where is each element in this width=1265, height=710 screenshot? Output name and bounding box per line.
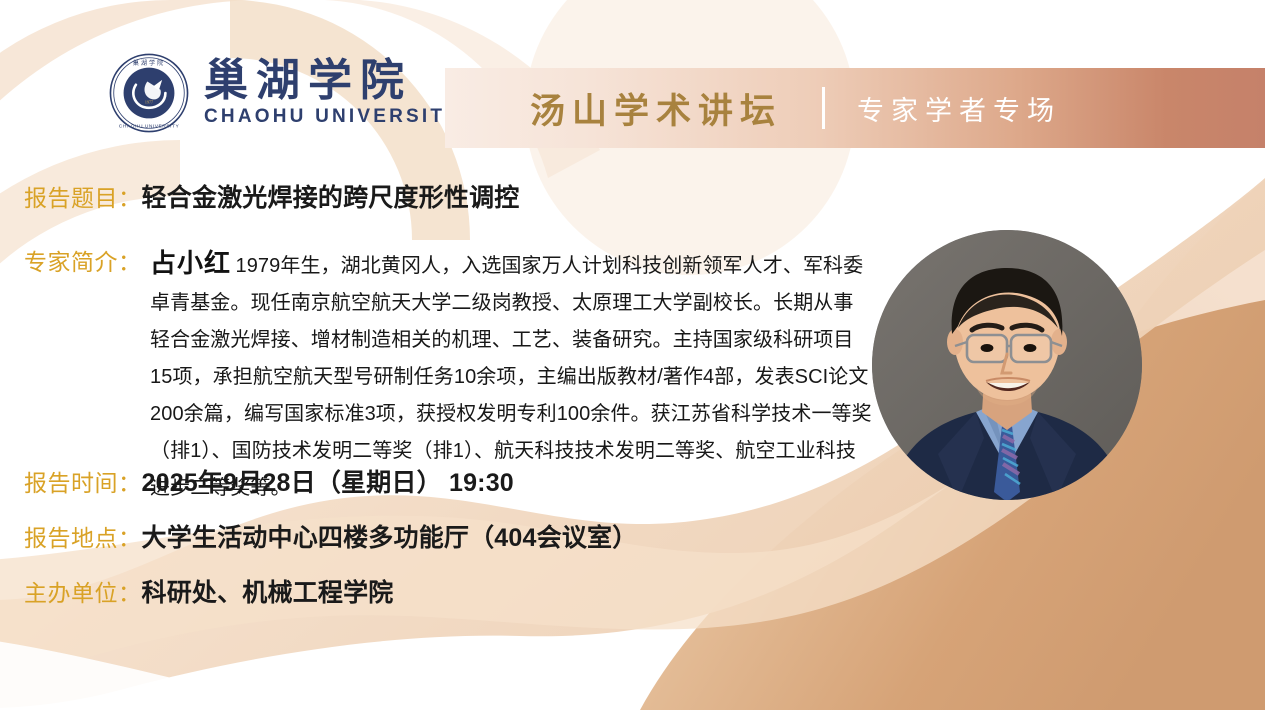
report-host-label: 主办单位： [24, 574, 142, 608]
svg-text:巢湖学院: 巢湖学院 [133, 59, 165, 67]
speaker-portrait [872, 230, 1142, 500]
banner-divider [822, 87, 825, 129]
banner-subtitle: 专家学者专场 [857, 89, 1061, 128]
report-time-row: 报告时间： 2025年9月28日（星期日） 19:30 [24, 463, 514, 499]
report-place-label: 报告地点： [24, 519, 142, 553]
speaker-bio-label: 专家简介： [24, 243, 142, 277]
university-seal-icon: 1977 巢湖学院 CHAOHU UNIVERSITY [108, 52, 190, 134]
university-name-cn: 巢湖学院 [204, 58, 412, 104]
svg-text:1977: 1977 [145, 100, 153, 105]
report-title-label: 报告题目： [24, 179, 142, 213]
speaker-portrait-image [872, 230, 1142, 500]
report-time-value: 2025年9月28日（星期日） 19:30 [142, 463, 514, 499]
speaker-name: 占小红 [150, 248, 231, 278]
banner-main-title: 汤山学术讲坛 [530, 83, 782, 134]
university-name-en: CHAOHU UNIVERSITY [204, 106, 461, 128]
report-place-value: 大学生活动中心四楼多功能厅（404会议室） [142, 518, 638, 554]
university-logo: 1977 巢湖学院 CHAOHU UNIVERSITY 巢湖学院 CHAOHU … [108, 52, 461, 134]
report-host-row: 主办单位： 科研处、机械工程学院 [24, 573, 394, 609]
report-title-row: 报告题目： 轻合金激光焊接的跨尺度形性调控 [24, 178, 520, 214]
svg-text:CHAOHU UNIVERSITY: CHAOHU UNIVERSITY [119, 123, 180, 129]
header-banner: 汤山学术讲坛 专家学者专场 [445, 68, 1265, 148]
report-host-value: 科研处、机械工程学院 [142, 573, 394, 609]
lecture-poster: 1977 巢湖学院 CHAOHU UNIVERSITY 巢湖学院 CHAOHU … [0, 0, 1265, 710]
report-place-row: 报告地点： 大学生活动中心四楼多功能厅（404会议室） [24, 518, 637, 554]
report-title-value: 轻合金激光焊接的跨尺度形性调控 [142, 178, 520, 214]
report-time-label: 报告时间： [24, 464, 142, 498]
